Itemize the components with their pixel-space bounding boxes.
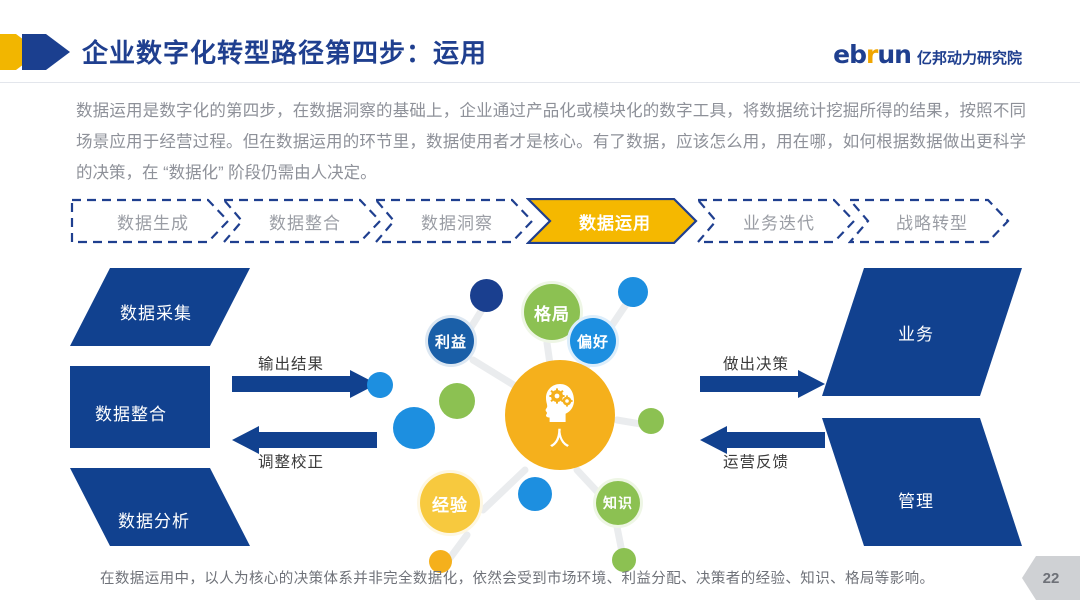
bubble-node-pianhao-label: 偏好: [577, 331, 609, 352]
process-step-4[interactable]: 数据运用: [526, 198, 698, 244]
logo-wordmark-right: un: [877, 40, 911, 69]
footer-note: 在数据运用中，以人为核心的决策体系并非完全数据化，依然会受到市场环境、利益分配、…: [100, 567, 934, 588]
logo-wordmark-left: eb: [833, 40, 866, 69]
bubble-node-zhishi-label: 知识: [603, 493, 633, 513]
arrow-make-decision-icon: [700, 370, 825, 398]
right-flow-arrows: [700, 370, 825, 455]
header-divider: [0, 82, 1080, 83]
left-shape-2-label: 数据整合: [95, 400, 167, 425]
page-title: 企业数字化转型路径第四步：运用: [82, 33, 487, 70]
bubble-node-liyi[interactable]: 利益: [425, 315, 477, 367]
bubble-dot-4: [439, 383, 475, 419]
flow-caption-make-decision: 做出决策: [723, 352, 789, 374]
bubble-dot-7: [518, 477, 552, 511]
bubble-node-geju-label: 格局: [534, 300, 570, 325]
bubble-node-zhishi[interactable]: 知识: [593, 478, 643, 528]
logo-wordmark-accent: r: [866, 40, 877, 69]
process-step-5-label: 业务迭代: [737, 209, 815, 234]
page-number: 22: [1043, 570, 1060, 587]
brand-logo: ebrun 亿邦动力研究院: [833, 40, 1022, 69]
process-step-3-label: 数据洞察: [415, 209, 493, 234]
process-step-5[interactable]: 业务迭代: [696, 198, 856, 244]
bubble-node-jingyan[interactable]: 经验: [417, 470, 483, 536]
right-shape-1-label: 业务: [898, 320, 934, 345]
bubble-center-label: 人: [550, 424, 570, 451]
head-gears-icon: [536, 380, 584, 428]
bubble-dot-2: [618, 277, 648, 307]
process-step-2[interactable]: 数据整合: [222, 198, 382, 244]
flow-caption-output-result: 输出结果: [258, 352, 324, 374]
bubble-dot-1: [470, 279, 503, 312]
flow-caption-operation-feedback: 运营反馈: [723, 450, 789, 472]
bubble-node-jingyan-label: 经验: [432, 491, 468, 516]
process-step-1-label: 数据生成: [111, 209, 189, 234]
right-shape-2-label: 管理: [898, 487, 934, 512]
header-arrow-logo-icon: [0, 28, 72, 76]
right-shape-2-body: [822, 418, 1022, 546]
slide-canvas: 企业数字化转型路径第四步：运用 ebrun 亿邦动力研究院 数据运用是数字化的第…: [0, 0, 1080, 608]
bubble-node-pianhao[interactable]: 偏好: [567, 315, 619, 367]
process-step-3[interactable]: 数据洞察: [374, 198, 534, 244]
bubble-node-liyi-label: 利益: [435, 331, 467, 352]
process-step-6-label: 战略转型: [890, 209, 968, 234]
process-step-4-label: 数据运用: [573, 209, 651, 234]
intro-paragraph: 数据运用是数字化的第四步，在数据洞察的基础上，企业通过产品化或模块化的数字工具，…: [76, 96, 1026, 189]
left-shape-3-label: 数据分析: [118, 507, 190, 532]
process-step-6[interactable]: 战略转型: [848, 198, 1010, 244]
process-step-1[interactable]: 数据生成: [70, 198, 230, 244]
process-step-bar: 数据生成 数据整合 数据洞察 数据运用 业务迭代: [70, 198, 1010, 244]
page-number-badge: 22: [1022, 556, 1080, 600]
bubble-center-person[interactable]: 人: [505, 360, 615, 470]
left-shape-1-label: 数据采集: [120, 299, 192, 324]
bubble-dot-3: [367, 372, 393, 398]
flow-caption-adjust-correct: 调整校正: [258, 450, 324, 472]
logo-wordmark: ebrun: [833, 40, 911, 69]
bubble-dot-5: [393, 407, 435, 449]
process-step-2-label: 数据整合: [263, 209, 341, 234]
logo-chinese-name: 亿邦动力研究院: [917, 47, 1022, 68]
bubble-cluster: 利益 格局 偏好 经验 知识: [355, 265, 695, 565]
bubble-dot-6: [638, 408, 664, 434]
